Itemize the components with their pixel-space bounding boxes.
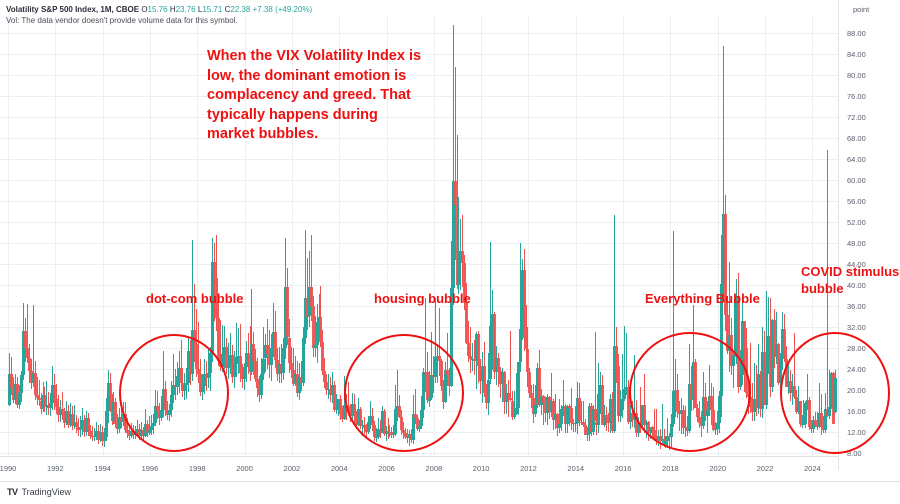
price-tick-label: 56.00 [847,197,866,206]
legend-primary-row: Volatility S&P 500 Index, 1M, CBOE O15.7… [6,4,312,15]
high-value: 23.76 [176,5,196,14]
open-value: 15.76 [148,5,168,14]
candle-body [302,338,305,383]
candle-wick [573,419,574,432]
volume-note: Vol: The data vendor doesn't provide vol… [6,15,312,26]
candle-wick [236,323,237,377]
price-tick-label: 48.00 [847,239,866,248]
low-value: 15.71 [202,5,222,14]
tradingview-logo[interactable]: TV TradingView [7,487,71,497]
annotation-ellipse-covid [780,332,890,454]
tradingview-chart-screenshot: Volatility S&P 500 Index, 1M, CBOE O15.7… [0,0,900,504]
candle-wick [92,426,93,441]
time-tick-label: 2010 [473,464,490,473]
annotation-label-housing: housing bubble [374,290,471,307]
price-tick-label: 36.00 [847,302,866,311]
candle-wick [510,331,511,401]
price-tick-label: 64.00 [847,155,866,164]
time-tick-label: 2016 [615,464,632,473]
price-tick-label: 60.00 [847,176,866,185]
time-tick-label: 2024 [804,464,821,473]
annotation-ellipse-dotcom [119,334,229,452]
candle-body [621,399,624,410]
time-tick-label: 1994 [94,464,111,473]
price-tick-label: 80.00 [847,71,866,80]
time-tick-label: 1996 [142,464,159,473]
time-tick-label: 1992 [47,464,64,473]
price-tick-label: 84.00 [847,50,866,59]
annotation-label-covid: COVID stimulus bubble [801,263,900,297]
price-axis-unit: point [853,5,869,14]
time-tick-label: 2020 [709,464,726,473]
annotation-main-note: When the VIX Volatility Index is low, th… [207,47,422,145]
candle-wick [470,327,471,373]
price-tick-label: 76.00 [847,92,866,101]
price-tick-label: 72.00 [847,113,866,122]
chart-legend: Volatility S&P 500 Index, 1M, CBOE O15.7… [6,4,312,26]
price-tick-label: 88.00 [847,29,866,38]
time-tick-label: 2014 [567,464,584,473]
time-tick-label: 2004 [331,464,348,473]
annotation-ellipse-housing [344,334,464,452]
change-value: +7.38 (+49.20%) [253,5,313,14]
symbol-title[interactable]: Volatility S&P 500 Index, 1M, CBOE [6,5,139,14]
annotation-label-dotcom: dot-com bubble [146,290,244,307]
candle-wick [754,363,755,421]
time-axis[interactable]: 1990199219941996199820002002200420062008… [0,456,838,480]
annotation-label-everything: Everything Bubble [645,290,760,307]
time-tick-label: 2000 [236,464,253,473]
candle-wick [37,377,38,404]
candle-wick [595,332,596,422]
tradingview-logo-word: TradingView [22,487,72,497]
candle-wick [472,343,473,371]
time-tick-label: 2002 [284,464,301,473]
price-tick-label: 68.00 [847,134,866,143]
time-tick-label: 2018 [662,464,679,473]
time-tick-label: 2006 [378,464,395,473]
time-tick-label: 1990 [0,464,16,473]
time-tick-label: 2008 [425,464,442,473]
time-tick-label: 2012 [520,464,537,473]
price-tick-label: 52.00 [847,218,866,227]
price-tick-label: 32.00 [847,323,866,332]
chart-footer: TV TradingView [0,481,900,504]
annotation-ellipse-everything [629,332,751,452]
time-tick-label: 2022 [757,464,774,473]
tradingview-logo-mark: TV [7,487,18,497]
time-tick-label: 1998 [189,464,206,473]
close-value: 22.38 [230,5,250,14]
candle-wick [46,381,47,415]
